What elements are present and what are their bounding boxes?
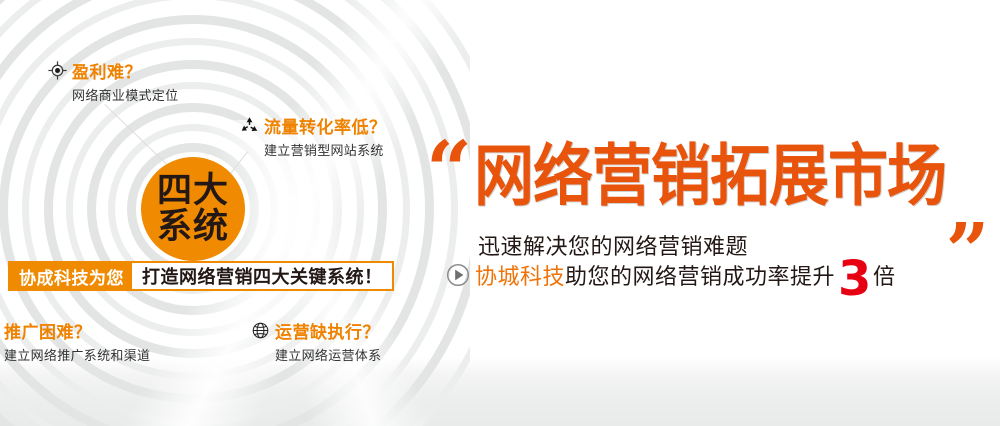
callout-promotion[interactable]: 推广困难？ 建立网络推广系统和渠道: [4, 318, 150, 364]
open-quote-mark: “: [426, 142, 472, 200]
callout-operation-title: 运营缺执行？: [275, 318, 380, 343]
marketing-banner: 四大 系统 盈利难？ 网络商业模式定位: [0, 0, 1000, 426]
callout-conversion-title: 流量转化率低？: [264, 113, 387, 138]
core-line-2: 系统: [157, 210, 229, 244]
strapline-text: 打造网络营销四大关键系统！: [132, 263, 392, 289]
callout-operation-subtitle: 建立网络运营体系: [275, 345, 381, 364]
callout-promotion-title: 推广困难？: [4, 318, 92, 343]
headline-text: 网络营销拓展市场: [474, 142, 946, 213]
callout-profit-subtitle: 网络商业模式定位: [72, 85, 178, 104]
callout-operation[interactable]: 运营缺执行？ 建立网络运营体系: [251, 318, 381, 364]
strapline-bar: 协成科技为您 打造网络营销四大关键系统！: [8, 261, 394, 291]
four-systems-core-bubble: 四大 系统: [141, 157, 245, 261]
close-quote-mark: „: [947, 181, 991, 236]
crosshair-target-icon: [48, 61, 67, 80]
headline-panel: “ 网络营销拓展市场 „ 迅速解决您的网络营销难题 协城科技 助您的网络营销成功…: [418, 0, 1000, 426]
main-headline: “ 网络营销拓展市场 „: [426, 142, 991, 220]
core-line-1: 四大: [157, 174, 229, 208]
callout-promotion-subtitle: 建立网络推广系统和渠道: [4, 345, 150, 364]
play-circle-icon: [446, 263, 470, 287]
globe-icon: [251, 321, 270, 340]
callout-conversion-subtitle: 建立营销型网站系统: [264, 140, 387, 159]
brand-name: 协城科技: [475, 259, 565, 291]
subheading-line-2-mid: 助您的网络营销成功率提升: [565, 259, 835, 291]
callout-profit[interactable]: 盈利难？ 网络商业模式定位: [48, 58, 178, 104]
strapline-highlight: 协成科技为您: [10, 263, 132, 289]
recycle-icon: [240, 116, 259, 135]
callout-profit-title: 盈利难？: [72, 58, 142, 83]
callout-conversion[interactable]: 流量转化率低？ 建立营销型网站系统: [240, 113, 387, 159]
multiplier-number: 3: [838, 265, 872, 294]
subheading-line-2: 协城科技 助您的网络营销成功率提升 3 倍: [446, 259, 895, 291]
multiplier-unit: 倍: [873, 259, 896, 291]
subheading-line-1: 迅速解决您的网络营销难题: [478, 229, 748, 261]
